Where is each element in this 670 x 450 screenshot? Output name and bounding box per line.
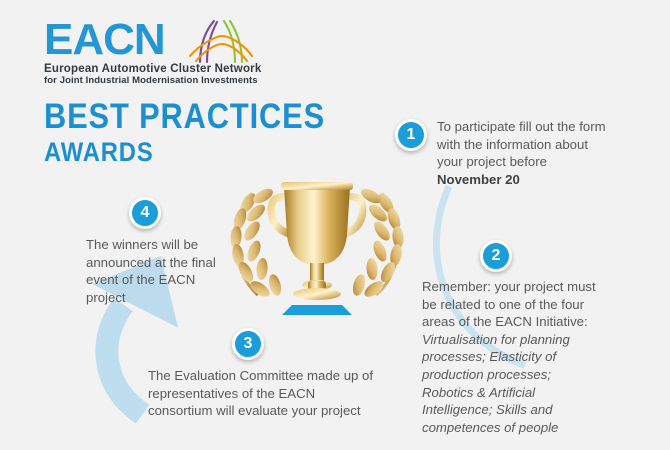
title-line-1: BEST PRACTICES	[44, 100, 325, 134]
best-practices-awards-poster: EACN European Automotive Cluster Network…	[0, 0, 670, 450]
step-2-body: Remember: your project must be related t…	[422, 279, 596, 329]
step-text-3: The Evaluation Committee made up of repr…	[148, 367, 383, 420]
trophy-icon	[268, 182, 367, 315]
step-1-deadline: November 20	[437, 172, 520, 187]
page-title: BEST PRACTICES AWARDS	[44, 100, 363, 167]
trophy-centerpiece	[222, 163, 412, 318]
step-4-body: The winners will be announced at the fin…	[86, 237, 216, 305]
logo-subtitle-line2: for Joint Industrial Modernisation Inves…	[44, 75, 261, 86]
step-badge-2[interactable]: 2	[480, 240, 512, 272]
step-text-2: Remember: your project must be related t…	[422, 278, 600, 436]
step-badge-4[interactable]: 4	[129, 197, 161, 229]
step-2-areas: Virtualisation for planning processes; E…	[422, 332, 570, 435]
eacn-logo: EACN European Automotive Cluster Network…	[44, 18, 261, 86]
step-1-body: To participate fill out the form with th…	[437, 119, 606, 169]
step-text-1: To participate fill out the form with th…	[437, 118, 607, 188]
step-badge-1[interactable]: 1	[395, 119, 427, 151]
step-3-body: The Evaluation Committee made up of repr…	[148, 368, 373, 418]
step-badge-3[interactable]: 3	[232, 328, 264, 360]
step-text-4: The winners will be announced at the fin…	[86, 236, 216, 306]
trophy-and-wreath-icon	[222, 163, 412, 318]
logo-mark-icon	[184, 16, 256, 71]
